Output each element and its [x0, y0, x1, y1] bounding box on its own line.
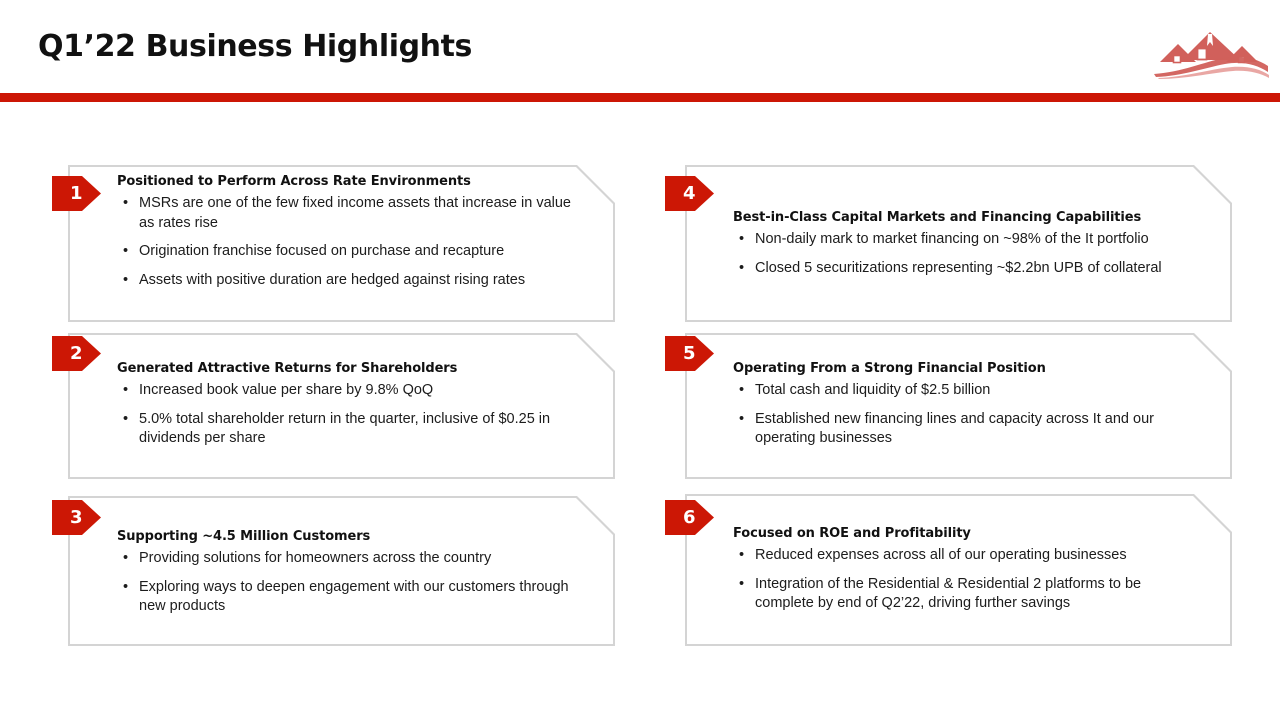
bullet-text: Increased book value per share by 9.8% Q…	[139, 382, 433, 398]
list-item: •Total cash and liquidity of $2.5 billio…	[733, 381, 1203, 401]
bullet-text: Assets with positive duration are hedged…	[139, 272, 525, 288]
highlight-bullets-2: •Increased book value per share by 9.8% …	[117, 381, 595, 449]
list-item: •Origination franchise focused on purcha…	[117, 242, 582, 262]
list-item: •MSRs are one of the few fixed income as…	[117, 194, 582, 233]
bullet-text: Established new financing lines and capa…	[755, 411, 1154, 447]
bullet-icon: •	[739, 410, 744, 430]
highlight-bullets-3: •Providing solutions for homeowners acro…	[117, 549, 572, 617]
highlight-heading-1: Positioned to Perform Across Rate Enviro…	[117, 174, 582, 189]
bullet-text: Providing solutions for homeowners acros…	[139, 550, 491, 566]
house-rooftops-logo	[1152, 22, 1270, 80]
bullet-text: 5.0% total shareholder return in the qua…	[139, 411, 550, 447]
bullet-text: Exploring ways to deepen engagement with…	[139, 579, 569, 615]
bullet-text: Closed 5 securitizations representing ~$…	[755, 260, 1162, 276]
bullet-icon: •	[123, 271, 128, 291]
list-item: •Reduced expenses across all of our oper…	[733, 546, 1203, 566]
highlight-content-4: Best-in-Class Capital Markets and Financ…	[733, 210, 1213, 278]
bullet-text: Integration of the Residential & Residen…	[755, 576, 1141, 612]
slide-canvas: Q1’22 Business Highlights	[0, 0, 1280, 720]
bullet-icon: •	[123, 242, 128, 262]
highlight-heading-2: Generated Attractive Returns for Shareho…	[117, 361, 595, 376]
page-title: Q1’22 Business Highlights	[38, 29, 472, 64]
bullet-text: Reduced expenses across all of our opera…	[755, 547, 1127, 563]
list-item: •Closed 5 securitizations representing ~…	[733, 259, 1213, 279]
highlight-bullets-4: •Non-daily mark to market financing on ~…	[733, 230, 1213, 278]
highlight-bullets-5: •Total cash and liquidity of $2.5 billio…	[733, 381, 1203, 449]
list-item: •5.0% total shareholder return in the qu…	[117, 410, 595, 449]
list-item: •Non-daily mark to market financing on ~…	[733, 230, 1213, 250]
list-item: •Increased book value per share by 9.8% …	[117, 381, 595, 401]
bullet-icon: •	[123, 381, 128, 401]
bullet-icon: •	[739, 381, 744, 401]
highlight-content-6: Focused on ROE and Profitability •Reduce…	[733, 526, 1203, 614]
highlight-heading-4: Best-in-Class Capital Markets and Financ…	[733, 210, 1213, 225]
highlight-heading-5: Operating From a Strong Financial Positi…	[733, 361, 1203, 376]
highlight-heading-6: Focused on ROE and Profitability	[733, 526, 1203, 541]
bullet-icon: •	[739, 259, 744, 279]
highlight-bullets-6: •Reduced expenses across all of our oper…	[733, 546, 1203, 614]
highlight-content-2: Generated Attractive Returns for Shareho…	[117, 361, 595, 449]
bullet-text: Total cash and liquidity of $2.5 billion	[755, 382, 990, 398]
list-item: •Exploring ways to deepen engagement wit…	[117, 578, 572, 617]
highlight-content-3: Supporting ~4.5 Million Customers •Provi…	[117, 529, 572, 617]
bullet-icon: •	[739, 230, 744, 250]
bullet-icon: •	[123, 194, 128, 214]
list-item: •Assets with positive duration are hedge…	[117, 271, 582, 291]
bullet-icon: •	[123, 549, 128, 569]
bullet-icon: •	[739, 546, 744, 566]
bullet-text: Origination franchise focused on purchas…	[139, 243, 504, 259]
header-red-rule	[0, 93, 1280, 102]
bullet-text: MSRs are one of the few fixed income ass…	[139, 195, 571, 231]
bullet-icon: •	[123, 410, 128, 430]
list-item: •Established new financing lines and cap…	[733, 410, 1203, 449]
highlight-content-5: Operating From a Strong Financial Positi…	[733, 361, 1203, 449]
list-item: •Integration of the Residential & Reside…	[733, 575, 1203, 614]
highlight-content-1: Positioned to Perform Across Rate Enviro…	[117, 174, 582, 290]
highlight-bullets-1: •MSRs are one of the few fixed income as…	[117, 194, 582, 290]
bullet-text: Non-daily mark to market financing on ~9…	[755, 231, 1149, 247]
bullet-icon: •	[739, 575, 744, 595]
list-item: •Providing solutions for homeowners acro…	[117, 549, 572, 569]
bullet-icon: •	[123, 578, 128, 598]
highlight-heading-3: Supporting ~4.5 Million Customers	[117, 529, 572, 544]
